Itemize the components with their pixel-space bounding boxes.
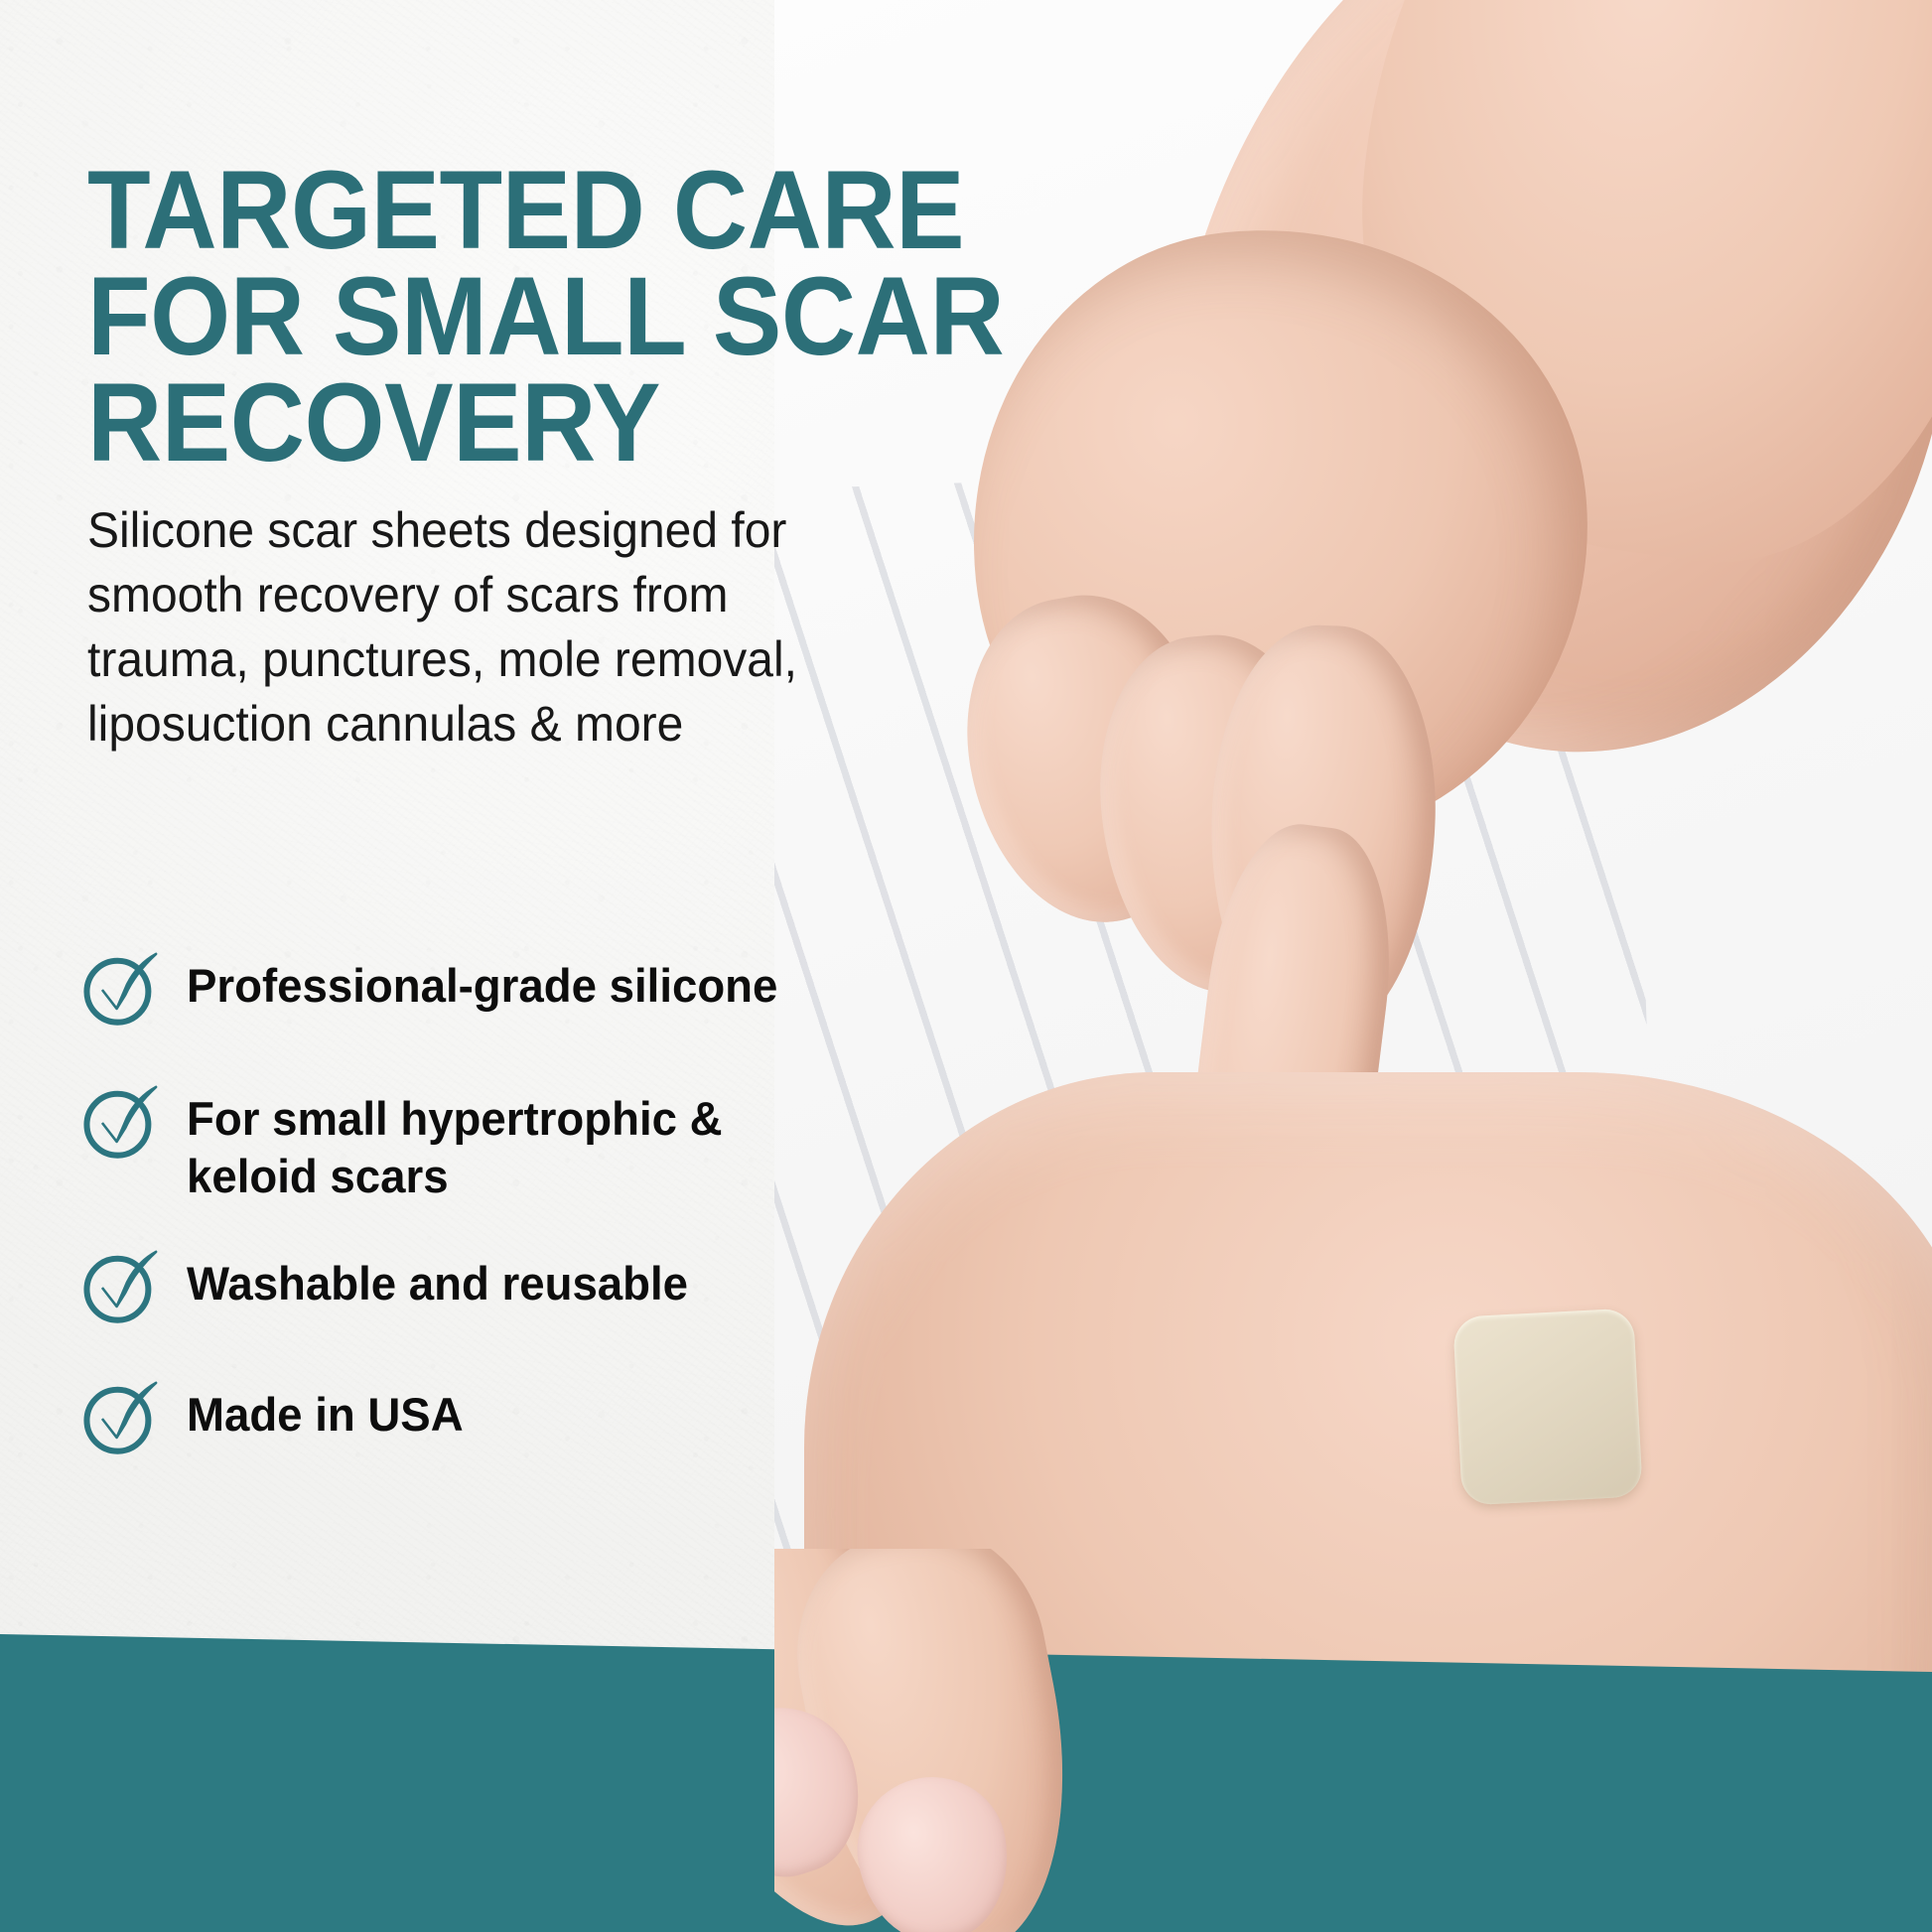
headline-line-2: FOR SMALL SCAR — [87, 264, 1030, 370]
list-item-label: Washable and reusable — [187, 1249, 688, 1312]
product-infographic: TARGETED CARE FOR SMALL SCAR RECOVERY Si… — [0, 0, 1932, 1932]
list-item-label-line-1: For small hypertrophic & — [187, 1092, 723, 1145]
list-item: Professional-grade silicone — [77, 951, 971, 1033]
headline-line-1: TARGETED CARE — [87, 158, 1030, 264]
subtitle-line-2: smooth recovery of scars from — [87, 563, 879, 627]
circle-check-icon — [77, 947, 163, 1033]
subtitle-line-4: liposuction cannulas & more — [87, 692, 879, 757]
silicone-scar-sheet-patch — [1452, 1308, 1643, 1505]
feature-list: Professional-grade silicone For small hy… — [77, 951, 971, 1461]
list-item-label: Made in USA — [187, 1380, 464, 1444]
page-title: TARGETED CARE FOR SMALL SCAR RECOVERY — [87, 158, 1030, 477]
circle-check-icon — [77, 1245, 163, 1330]
subtitle-paragraph: Silicone scar sheets designed for smooth… — [87, 498, 879, 757]
subtitle-line-3: trauma, punctures, mole removal, — [87, 627, 879, 692]
subtitle-line-1: Silicone scar sheets designed for — [87, 498, 879, 563]
list-item-label: For small hypertrophic & keloid scars — [187, 1084, 723, 1205]
list-item: Washable and reusable — [77, 1249, 971, 1330]
circle-check-icon — [77, 1376, 163, 1461]
list-item-label: Professional-grade silicone — [187, 951, 777, 1015]
circle-check-icon — [77, 1080, 163, 1166]
list-item-label-line-2: keloid scars — [187, 1150, 449, 1202]
headline-line-3: RECOVERY — [87, 370, 1030, 477]
list-item: For small hypertrophic & keloid scars — [77, 1084, 971, 1205]
lower-hand-fingers-overlay — [774, 1549, 1932, 1932]
list-item: Made in USA — [77, 1380, 971, 1461]
